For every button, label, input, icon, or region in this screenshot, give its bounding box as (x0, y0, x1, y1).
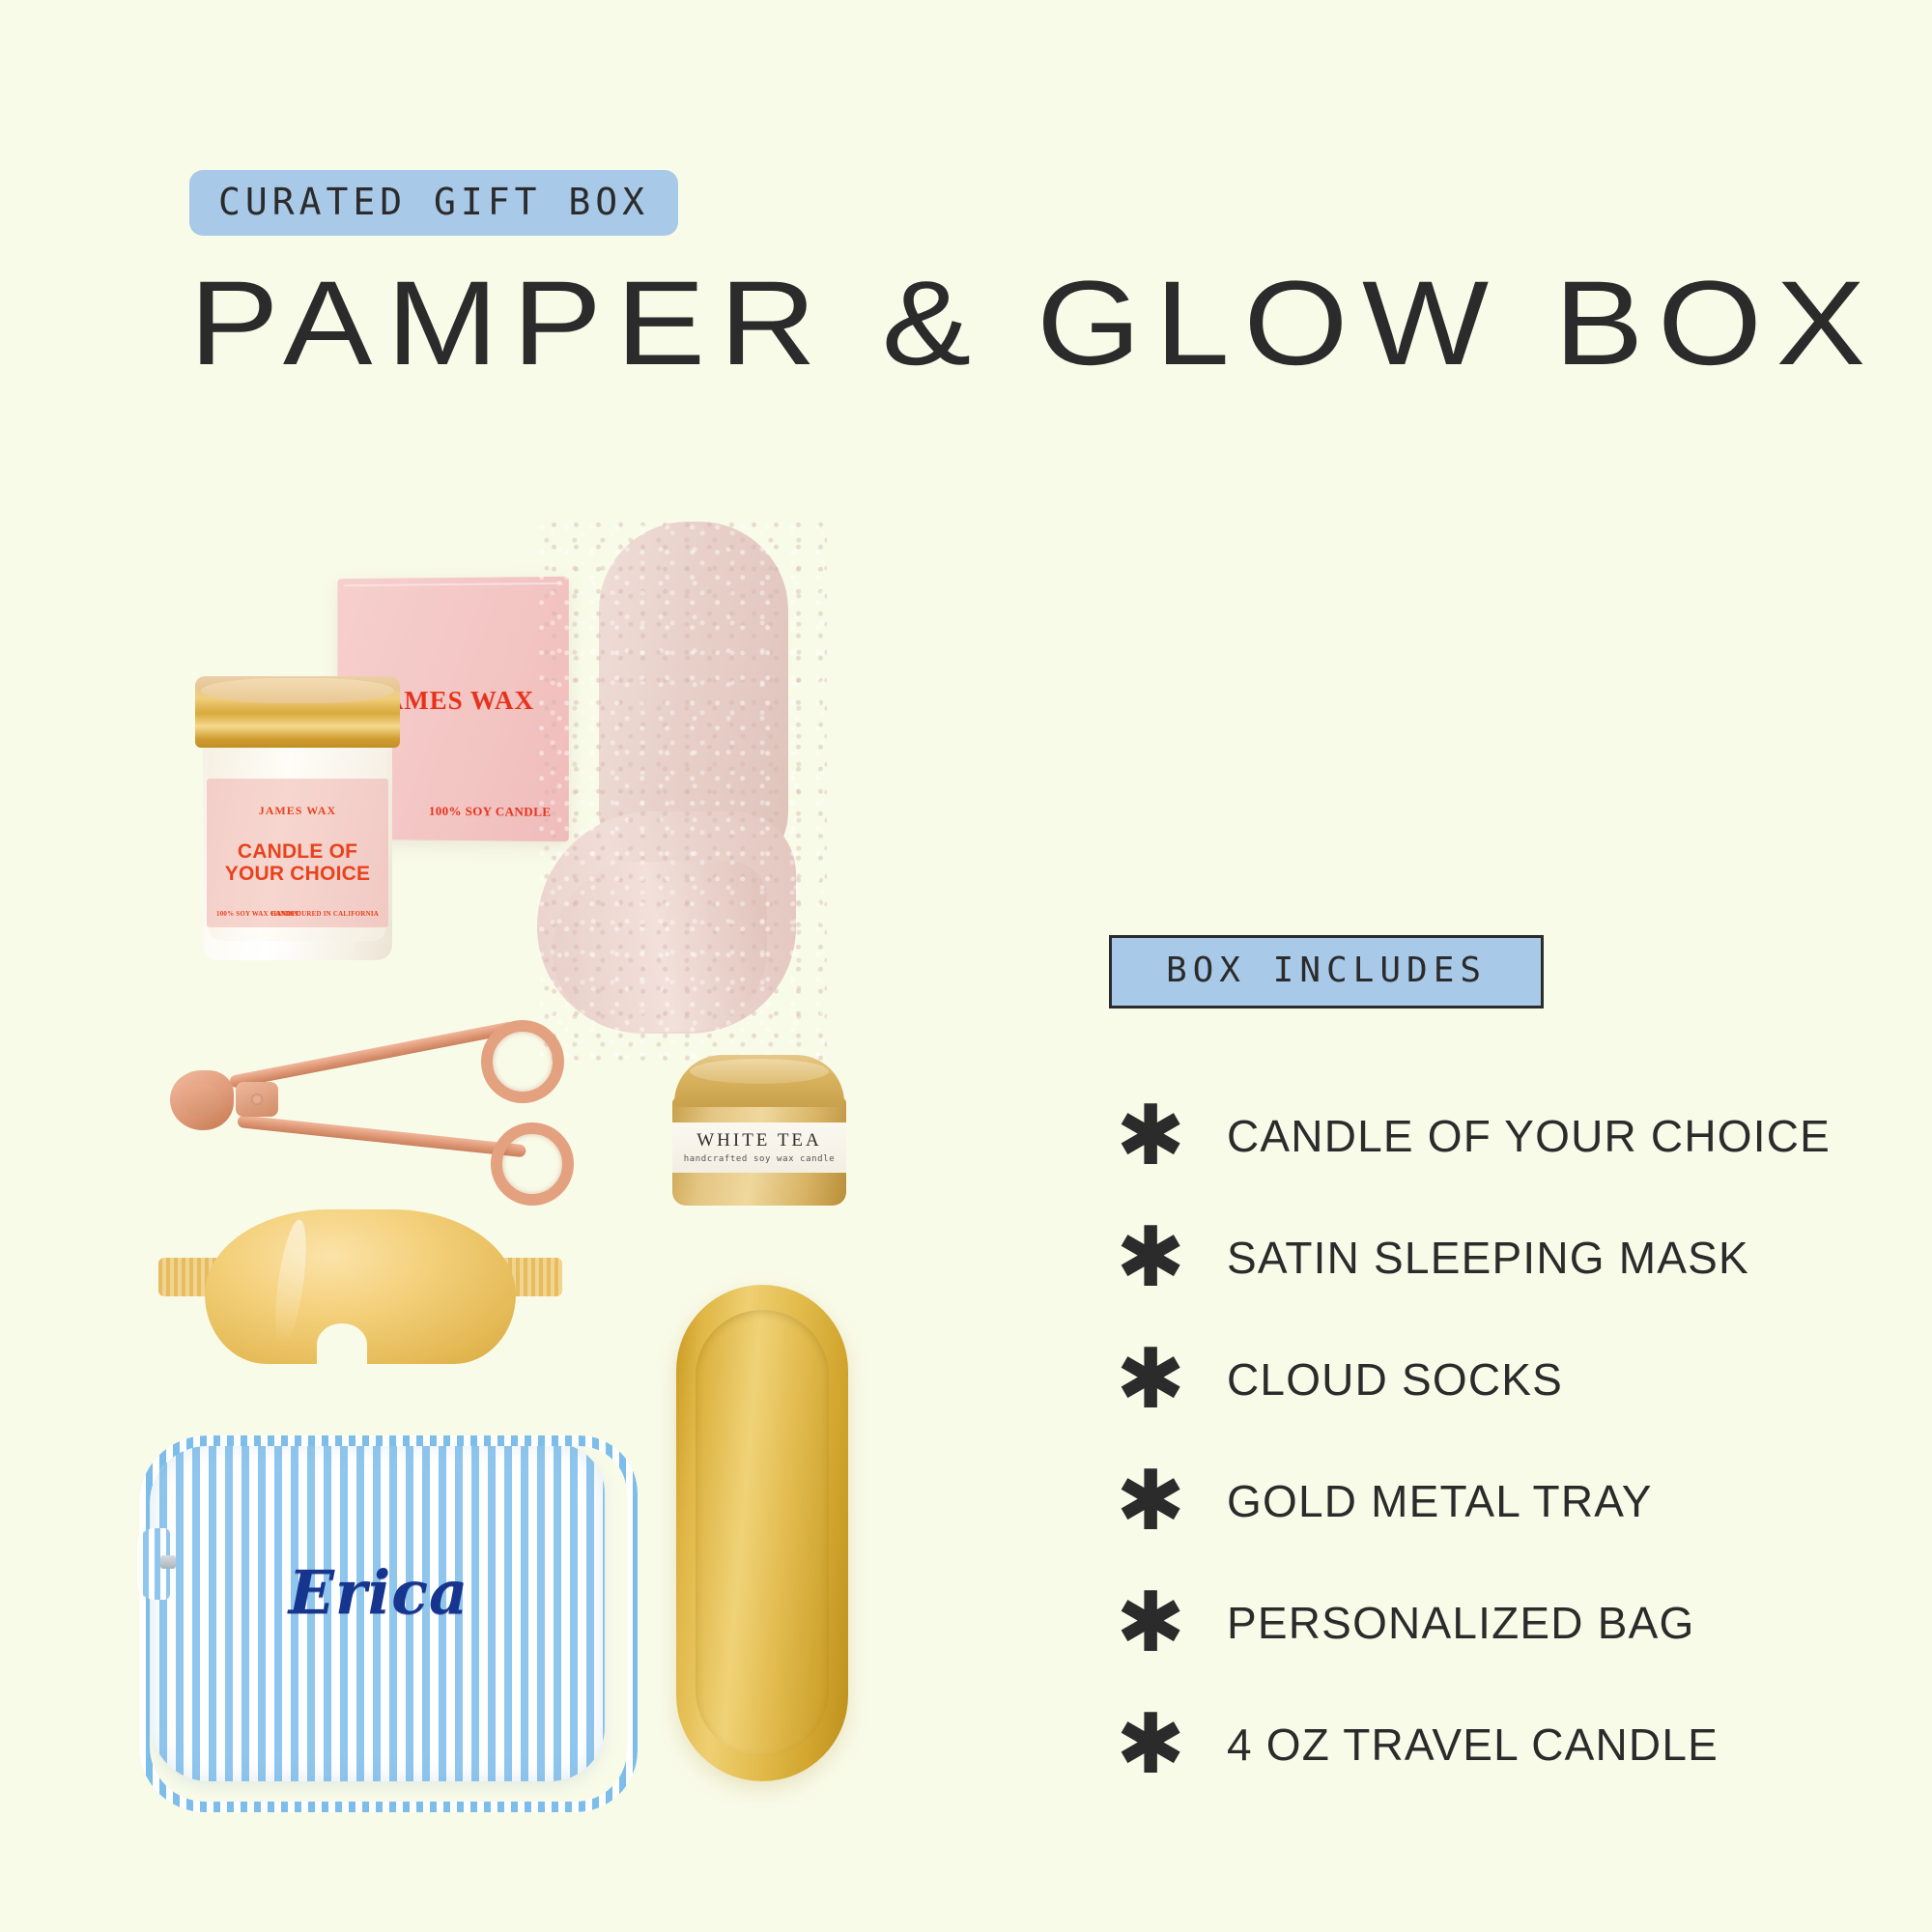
list-item-label: SATIN SLEEPING MASK (1227, 1232, 1749, 1284)
asterisk-icon: ✱ (1109, 1470, 1192, 1533)
sock-foot-highlight (553, 862, 767, 1032)
box-includes-heading: BOX INCLUDES (1109, 935, 1544, 1009)
list-item: ✱ GOLD METAL TRAY (1109, 1455, 1843, 1548)
list-item: ✱ CANDLE OF YOUR CHOICE (1109, 1090, 1843, 1182)
wick-trimmer-arm-upper (229, 1021, 516, 1089)
product-gold-tray-image (676, 1285, 848, 1781)
list-item: ✱ CLOUD SOCKS (1109, 1333, 1843, 1426)
product-candle-jar-image: JAMES WAX CANDLE OF YOUR CHOICE 100% SOY… (195, 676, 400, 960)
gift-box-footnote-text: 100% SOY CANDLE (429, 804, 552, 820)
wick-trimmer-blade-head (170, 1070, 234, 1130)
list-item: ✱ SATIN SLEEPING MASK (1109, 1211, 1843, 1304)
wick-trimmer-arm-lower (237, 1115, 526, 1157)
box-includes-list: ✱ CANDLE OF YOUR CHOICE ✱ SATIN SLEEPING… (1109, 1090, 1843, 1791)
personalized-bag-embroidered-name: Erica (137, 1557, 620, 1628)
product-sleep-mask-image (153, 1202, 568, 1372)
wick-trimmer-pivot (236, 1082, 278, 1117)
box-includes-panel: BOX INCLUDES ✱ CANDLE OF YOUR CHOICE ✱ S… (1109, 935, 1843, 1820)
candle-jar-footnote-right: HANDPOURED IN CALIFORNIA (271, 910, 379, 918)
list-item-label: CLOUD SOCKS (1227, 1353, 1563, 1406)
asterisk-icon: ✱ (1109, 1592, 1192, 1655)
asterisk-icon: ✱ (1109, 1227, 1192, 1290)
product-wick-trimmer-image (155, 1022, 580, 1215)
candle-jar-title-line-2: YOUR CHOICE (207, 864, 388, 886)
wick-trimmer-ring-upper (481, 1020, 564, 1103)
list-item: ✱ 4 OZ TRAVEL CANDLE (1109, 1698, 1843, 1791)
candle-jar-title-line-1: CANDLE OF (207, 841, 388, 864)
list-item-label: CANDLE OF YOUR CHOICE (1227, 1110, 1831, 1162)
travel-tin-subtitle-text: handcrafted soy wax candle (672, 1154, 846, 1164)
list-item-label: GOLD METAL TRAY (1227, 1475, 1653, 1527)
wick-trimmer-ring-lower (491, 1122, 574, 1206)
sleep-mask-body (205, 1209, 516, 1364)
product-travel-tin-image: WHITE TEA handcrafted soy wax candle (668, 1055, 850, 1211)
list-item-label: 4 OZ TRAVEL CANDLE (1227, 1719, 1719, 1771)
candle-jar-brand-text: JAMES WAX (207, 804, 388, 818)
product-personalized-bag-image: Erica (137, 1435, 620, 1799)
list-item: ✱ PERSONALIZED BAG (1109, 1577, 1843, 1669)
asterisk-icon: ✱ (1109, 1714, 1192, 1776)
product-collage: JAMES WAX 100% SOY CANDLE JAMES WAX CAND… (0, 0, 1082, 1932)
product-cloud-socks-image (537, 522, 827, 1063)
travel-tin-label: WHITE TEA handcrafted soy wax candle (672, 1122, 846, 1173)
travel-tin-lid (674, 1055, 844, 1107)
candle-jar-label: JAMES WAX CANDLE OF YOUR CHOICE 100% SOY… (207, 779, 388, 927)
asterisk-icon: ✱ (1109, 1105, 1192, 1168)
asterisk-icon: ✱ (1109, 1349, 1192, 1411)
travel-tin-name-text: WHITE TEA (672, 1122, 846, 1151)
gift-box-lid-edge (343, 582, 562, 596)
poster-canvas: CURATED GIFT BOX PAMPER & GLOW BOX JAMES… (0, 0, 1932, 1932)
candle-jar-gold-lid (195, 676, 400, 748)
list-item-label: PERSONALIZED BAG (1227, 1597, 1694, 1649)
